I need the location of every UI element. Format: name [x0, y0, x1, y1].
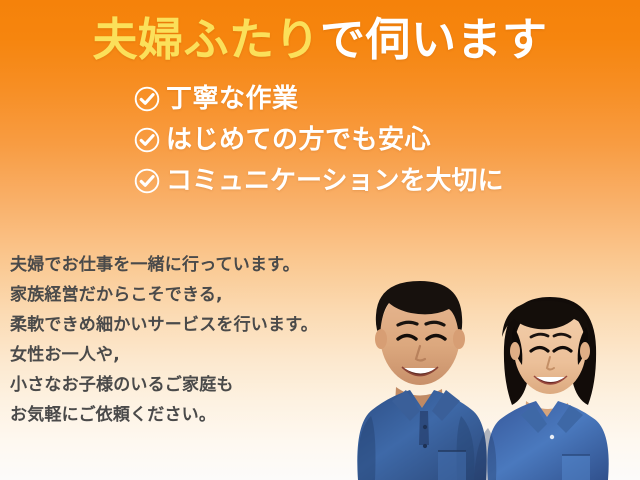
- checklist-item-label: はじめての方でも安心: [166, 125, 431, 155]
- checklist-item: 丁寧な作業: [0, 78, 640, 119]
- feature-checklist: 丁寧な作業 はじめての方でも安心 コミュニケーションを大切に: [0, 78, 640, 201]
- body-line: 小さなお子様のいるご家庭も: [10, 370, 360, 400]
- checklist-item: はじめての方でも安心: [0, 119, 640, 160]
- body-line: お気軽にご依頼ください。: [10, 400, 360, 430]
- headline: 夫婦ふたりで伺います: [0, 14, 640, 66]
- body-line: 柔軟できめ細かいサービスを行います。: [10, 310, 360, 340]
- checklist-item-label: 丁寧な作業: [166, 84, 299, 114]
- couple-photo: [350, 215, 640, 480]
- check-circle-icon: [134, 127, 160, 153]
- body-line: 女性お一人や,: [10, 340, 360, 370]
- body-copy: 夫婦でお仕事を一緒に行っています。 家族経営だからこそできる, 柔軟できめ細かい…: [10, 250, 360, 430]
- body-line: 家族経営だからこそできる,: [10, 280, 360, 310]
- promo-banner: 夫婦ふたりで伺います 丁寧な作業 はじめての方でも安心: [0, 0, 640, 480]
- check-circle-icon: [134, 86, 160, 112]
- body-line: 夫婦でお仕事を一緒に行っています。: [10, 250, 360, 280]
- check-circle-icon: [134, 168, 160, 194]
- checklist-item: コミュニケーションを大切に: [0, 160, 640, 201]
- headline-rest: で伺います: [320, 13, 548, 66]
- headline-highlight: 夫婦ふたり: [92, 13, 320, 66]
- checklist-item-label: コミュニケーションを大切に: [166, 166, 503, 196]
